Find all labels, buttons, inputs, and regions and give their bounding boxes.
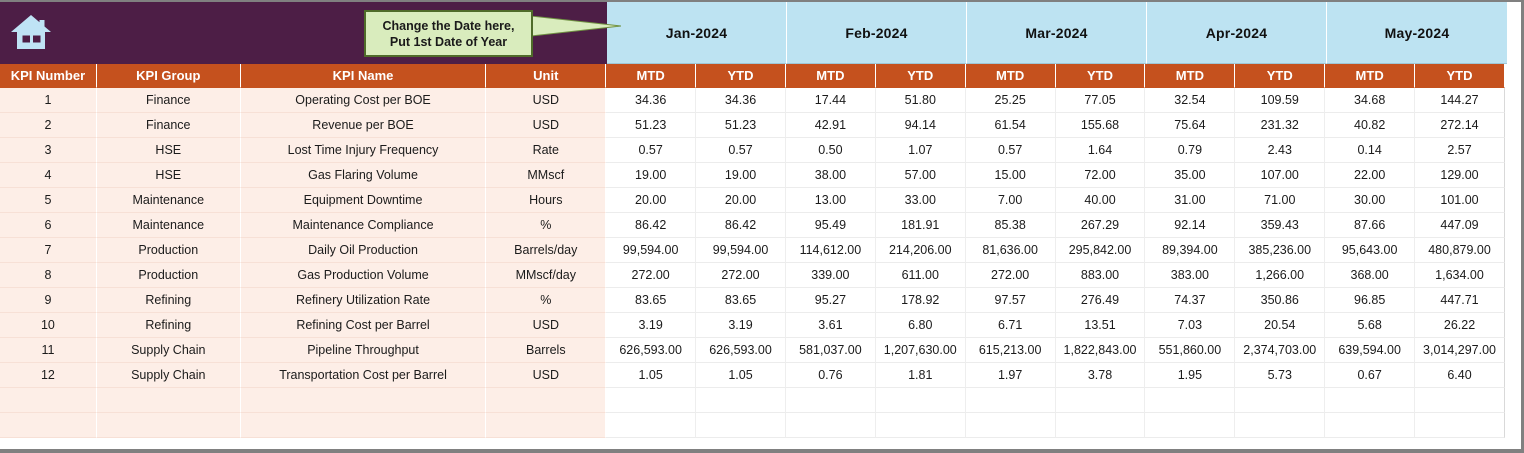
cell-may-2024-ytd[interactable]: 480,879.00 — [1415, 238, 1505, 263]
cell-mar-2024-ytd[interactable]: 883.00 — [1056, 263, 1146, 288]
cell-jan-2024-mtd[interactable]: 272.00 — [606, 263, 696, 288]
cell-kpi-group[interactable]: Refining — [97, 288, 241, 313]
cell-kpi-number[interactable]: 12 — [0, 363, 97, 388]
cell-may-2024-mtd[interactable]: 0.14 — [1325, 138, 1415, 163]
cell-feb-2024-mtd[interactable]: 114,612.00 — [786, 238, 876, 263]
cell-may-2024-ytd[interactable] — [1415, 388, 1505, 413]
column-header-row: KPI NumberKPI GroupKPI NameUnitMTDYTDMTD… — [0, 64, 1505, 88]
cell-jan-2024-mtd[interactable]: 3.19 — [606, 313, 696, 338]
cell-mar-2024-mtd[interactable]: 7.00 — [966, 188, 1056, 213]
table-row: 12Supply ChainTransportation Cost per Ba… — [0, 363, 1505, 388]
cell-jan-2024-mtd[interactable]: 20.00 — [606, 188, 696, 213]
cell-kpi-group[interactable]: Supply Chain — [97, 363, 241, 388]
cell-feb-2024-mtd[interactable]: 13.00 — [786, 188, 876, 213]
cell-apr-2024-mtd[interactable]: 89,394.00 — [1145, 238, 1235, 263]
cell-feb-2024-ytd[interactable]: 51.80 — [876, 88, 966, 113]
cell-feb-2024-ytd[interactable]: 94.14 — [876, 113, 966, 138]
header-mtd-1[interactable]: MTD — [606, 64, 696, 88]
cell-feb-2024-mtd[interactable]: 95.49 — [786, 213, 876, 238]
cell-mar-2024-ytd[interactable]: 295,842.00 — [1056, 238, 1146, 263]
cell-kpi-number[interactable] — [0, 413, 97, 438]
callout-line-2: Put 1st Date of Year — [390, 34, 507, 50]
cell-feb-2024-mtd[interactable]: 42.91 — [786, 113, 876, 138]
cell-jan-2024-ytd[interactable]: 3.19 — [696, 313, 786, 338]
cell-kpi-name[interactable] — [241, 413, 487, 438]
cell-kpi-name[interactable]: Revenue per BOE — [241, 113, 487, 138]
cell-mar-2024-mtd[interactable]: 25.25 — [966, 88, 1056, 113]
table-row: 10RefiningRefining Cost per BarrelUSD3.1… — [0, 313, 1505, 338]
cell-may-2024-mtd[interactable]: 87.66 — [1325, 213, 1415, 238]
cell-jan-2024-ytd[interactable]: 626,593.00 — [696, 338, 786, 363]
cell-jan-2024-mtd[interactable] — [606, 388, 696, 413]
cell-feb-2024-mtd[interactable]: 95.27 — [786, 288, 876, 313]
cell-jan-2024-ytd[interactable] — [696, 413, 786, 438]
cell-kpi-name[interactable] — [241, 388, 487, 413]
cell-feb-2024-ytd[interactable] — [876, 388, 966, 413]
table-row: 1FinanceOperating Cost per BOEUSD34.3634… — [0, 88, 1505, 113]
cell-mar-2024-ytd[interactable] — [1056, 388, 1146, 413]
cell-kpi-group[interactable]: Maintenance — [97, 213, 241, 238]
cell-kpi-name[interactable]: Equipment Downtime — [241, 188, 487, 213]
cell-apr-2024-mtd[interactable]: 0.79 — [1145, 138, 1235, 163]
cell-apr-2024-ytd[interactable]: 5.73 — [1235, 363, 1325, 388]
cell-apr-2024-ytd[interactable]: 107.00 — [1235, 163, 1325, 188]
cell-mar-2024-mtd[interactable]: 6.71 — [966, 313, 1056, 338]
cell-kpi-group[interactable] — [97, 388, 241, 413]
table-row: 9RefiningRefinery Utilization Rate%83.65… — [0, 288, 1505, 313]
date-instruction-callout: Change the Date here, Put 1st Date of Ye… — [364, 10, 533, 57]
cell-apr-2024-mtd[interactable]: 74.37 — [1145, 288, 1235, 313]
table-row: 7ProductionDaily Oil ProductionBarrels/d… — [0, 238, 1505, 263]
cell-feb-2024-mtd[interactable]: 339.00 — [786, 263, 876, 288]
cell-may-2024-mtd[interactable]: 95,643.00 — [1325, 238, 1415, 263]
month-header-band: Jan-2024Feb-2024Mar-2024Apr-2024May-2024 — [607, 2, 1507, 64]
cell-mar-2024-mtd[interactable]: 61.54 — [966, 113, 1056, 138]
cell-mar-2024-mtd[interactable]: 97.57 — [966, 288, 1056, 313]
cell-may-2024-ytd[interactable]: 447.71 — [1415, 288, 1505, 313]
cell-kpi-number[interactable] — [0, 388, 97, 413]
cell-apr-2024-ytd[interactable]: 1,266.00 — [1235, 263, 1325, 288]
cell-kpi-name[interactable]: Transportation Cost per Barrel — [241, 363, 487, 388]
cell-jan-2024-mtd[interactable]: 34.36 — [606, 88, 696, 113]
cell-feb-2024-mtd[interactable]: 0.76 — [786, 363, 876, 388]
cell-feb-2024-ytd[interactable]: 1.81 — [876, 363, 966, 388]
cell-unit[interactable]: % — [486, 288, 606, 313]
callout-line-1: Change the Date here, — [383, 18, 515, 34]
cell-apr-2024-ytd[interactable]: 20.54 — [1235, 313, 1325, 338]
cell-feb-2024-mtd[interactable]: 581,037.00 — [786, 338, 876, 363]
cell-mar-2024-mtd[interactable]: 615,213.00 — [966, 338, 1056, 363]
cell-apr-2024-ytd[interactable] — [1235, 388, 1325, 413]
header-mtd-3[interactable]: MTD — [966, 64, 1056, 88]
table-row: 3HSELost Time Injury FrequencyRate0.570.… — [0, 138, 1505, 163]
cell-mar-2024-ytd[interactable]: 1.64 — [1056, 138, 1146, 163]
cell-kpi-group[interactable]: Finance — [97, 88, 241, 113]
cell-apr-2024-ytd[interactable]: 2.43 — [1235, 138, 1325, 163]
cell-feb-2024-ytd[interactable] — [876, 413, 966, 438]
cell-unit[interactable]: Rate — [486, 138, 606, 163]
cell-jan-2024-ytd[interactable] — [696, 388, 786, 413]
cell-may-2024-mtd[interactable] — [1325, 388, 1415, 413]
cell-jan-2024-ytd[interactable]: 51.23 — [696, 113, 786, 138]
cell-may-2024-mtd[interactable]: 5.68 — [1325, 313, 1415, 338]
cell-apr-2024-mtd[interactable] — [1145, 388, 1235, 413]
cell-jan-2024-mtd[interactable]: 19.00 — [606, 163, 696, 188]
cell-kpi-name[interactable]: Daily Oil Production — [241, 238, 487, 263]
cell-may-2024-mtd[interactable]: 0.67 — [1325, 363, 1415, 388]
cell-mar-2024-mtd[interactable]: 81,636.00 — [966, 238, 1056, 263]
cell-kpi-number[interactable]: 1 — [0, 88, 97, 113]
cell-jan-2024-mtd[interactable]: 51.23 — [606, 113, 696, 138]
header-ytd-2[interactable]: YTD — [876, 64, 966, 88]
home-icon[interactable] — [10, 12, 52, 52]
cell-feb-2024-ytd[interactable]: 33.00 — [876, 188, 966, 213]
header-ytd-3[interactable]: YTD — [1056, 64, 1146, 88]
cell-jan-2024-ytd[interactable]: 272.00 — [696, 263, 786, 288]
cell-kpi-name[interactable]: Gas Flaring Volume — [241, 163, 487, 188]
cell-kpi-group[interactable]: Refining — [97, 313, 241, 338]
cell-apr-2024-mtd[interactable]: 35.00 — [1145, 163, 1235, 188]
cell-kpi-group[interactable]: Production — [97, 263, 241, 288]
cell-may-2024-ytd[interactable]: 6.40 — [1415, 363, 1505, 388]
cell-kpi-group[interactable]: Maintenance — [97, 188, 241, 213]
cell-may-2024-ytd[interactable]: 3,014,297.00 — [1415, 338, 1505, 363]
table-row — [0, 388, 1505, 413]
cell-feb-2024-mtd[interactable]: 17.44 — [786, 88, 876, 113]
cell-may-2024-ytd[interactable]: 101.00 — [1415, 188, 1505, 213]
cell-kpi-group[interactable]: HSE — [97, 138, 241, 163]
cell-unit[interactable]: USD — [486, 313, 606, 338]
header-kpi-group[interactable]: KPI Group — [97, 64, 241, 88]
kpi-dashboard-table: Change the Date here, Put 1st Date of Ye… — [0, 0, 1524, 453]
cell-mar-2024-ytd[interactable]: 40.00 — [1056, 188, 1146, 213]
cell-apr-2024-ytd[interactable]: 385,236.00 — [1235, 238, 1325, 263]
cell-mar-2024-mtd[interactable] — [966, 388, 1056, 413]
cell-apr-2024-ytd[interactable]: 359.43 — [1235, 213, 1325, 238]
cell-unit[interactable]: USD — [486, 88, 606, 113]
cell-unit[interactable] — [486, 388, 606, 413]
callout-tail — [531, 16, 621, 38]
cell-kpi-number[interactable]: 2 — [0, 113, 97, 138]
header-mtd-5[interactable]: MTD — [1325, 64, 1415, 88]
cell-may-2024-ytd[interactable] — [1415, 413, 1505, 438]
cell-mar-2024-ytd[interactable]: 3.78 — [1056, 363, 1146, 388]
cell-unit[interactable]: USD — [486, 113, 606, 138]
cell-jan-2024-ytd[interactable]: 99,594.00 — [696, 238, 786, 263]
table-row: 4HSEGas Flaring VolumeMMscf19.0019.0038.… — [0, 163, 1505, 188]
cell-apr-2024-ytd[interactable]: 109.59 — [1235, 88, 1325, 113]
cell-apr-2024-mtd[interactable]: 32.54 — [1145, 88, 1235, 113]
cell-apr-2024-mtd[interactable]: 92.14 — [1145, 213, 1235, 238]
table-row: 11Supply ChainPipeline ThroughputBarrels… — [0, 338, 1505, 363]
cell-feb-2024-ytd[interactable]: 611.00 — [876, 263, 966, 288]
cell-feb-2024-mtd[interactable] — [786, 413, 876, 438]
cell-feb-2024-ytd[interactable]: 181.91 — [876, 213, 966, 238]
cell-may-2024-mtd[interactable] — [1325, 413, 1415, 438]
cell-may-2024-ytd[interactable]: 144.27 — [1415, 88, 1505, 113]
month-header-may-2024[interactable]: May-2024 — [1327, 2, 1507, 64]
cell-jan-2024-ytd[interactable]: 20.00 — [696, 188, 786, 213]
table-row: 2FinanceRevenue per BOEUSD51.2351.2342.9… — [0, 113, 1505, 138]
cell-kpi-name[interactable]: Operating Cost per BOE — [241, 88, 487, 113]
header-mtd-4[interactable]: MTD — [1145, 64, 1235, 88]
cell-kpi-number[interactable]: 7 — [0, 238, 97, 263]
cell-apr-2024-ytd[interactable] — [1235, 413, 1325, 438]
cell-jan-2024-mtd[interactable]: 83.65 — [606, 288, 696, 313]
cell-feb-2024-ytd[interactable]: 1.07 — [876, 138, 966, 163]
cell-may-2024-mtd[interactable]: 22.00 — [1325, 163, 1415, 188]
cell-jan-2024-mtd[interactable]: 86.42 — [606, 213, 696, 238]
header-mtd-2[interactable]: MTD — [786, 64, 876, 88]
cell-may-2024-ytd[interactable]: 447.09 — [1415, 213, 1505, 238]
cell-unit[interactable]: Barrels — [486, 338, 606, 363]
cell-unit[interactable]: USD — [486, 363, 606, 388]
cell-kpi-number[interactable]: 3 — [0, 138, 97, 163]
header-kpi-name[interactable]: KPI Name — [241, 64, 487, 88]
cell-unit[interactable]: MMscf/day — [486, 263, 606, 288]
cell-mar-2024-mtd[interactable]: 272.00 — [966, 263, 1056, 288]
cell-may-2024-mtd[interactable]: 34.68 — [1325, 88, 1415, 113]
cell-feb-2024-mtd[interactable]: 0.50 — [786, 138, 876, 163]
cell-kpi-name[interactable]: Refining Cost per Barrel — [241, 313, 487, 338]
cell-jan-2024-ytd[interactable]: 83.65 — [696, 288, 786, 313]
cell-kpi-name[interactable]: Lost Time Injury Frequency — [241, 138, 487, 163]
cell-mar-2024-ytd[interactable]: 267.29 — [1056, 213, 1146, 238]
cell-unit[interactable] — [486, 413, 606, 438]
cell-kpi-name[interactable]: Pipeline Throughput — [241, 338, 487, 363]
cell-may-2024-mtd[interactable]: 96.85 — [1325, 288, 1415, 313]
cell-jan-2024-mtd[interactable]: 1.05 — [606, 363, 696, 388]
cell-may-2024-ytd[interactable]: 1,634.00 — [1415, 263, 1505, 288]
header-unit[interactable]: Unit — [486, 64, 606, 88]
cell-kpi-name[interactable]: Gas Production Volume — [241, 263, 487, 288]
cell-apr-2024-ytd[interactable]: 350.86 — [1235, 288, 1325, 313]
table-row — [0, 413, 1505, 438]
header-ytd-5[interactable]: YTD — [1415, 64, 1505, 88]
cell-unit[interactable]: MMscf — [486, 163, 606, 188]
cell-jan-2024-ytd[interactable]: 34.36 — [696, 88, 786, 113]
cell-kpi-number[interactable]: 9 — [0, 288, 97, 313]
cell-mar-2024-mtd[interactable]: 0.57 — [966, 138, 1056, 163]
cell-kpi-name[interactable]: Maintenance Compliance — [241, 213, 487, 238]
cell-apr-2024-mtd[interactable]: 1.95 — [1145, 363, 1235, 388]
cell-apr-2024-ytd[interactable]: 231.32 — [1235, 113, 1325, 138]
cell-mar-2024-ytd[interactable]: 72.00 — [1056, 163, 1146, 188]
cell-kpi-number[interactable]: 8 — [0, 263, 97, 288]
cell-feb-2024-ytd[interactable]: 178.92 — [876, 288, 966, 313]
cell-mar-2024-ytd[interactable]: 77.05 — [1056, 88, 1146, 113]
cell-mar-2024-mtd[interactable] — [966, 413, 1056, 438]
cell-kpi-number[interactable]: 4 — [0, 163, 97, 188]
cell-jan-2024-mtd[interactable] — [606, 413, 696, 438]
cell-unit[interactable]: % — [486, 213, 606, 238]
cell-mar-2024-ytd[interactable] — [1056, 413, 1146, 438]
month-header-apr-2024[interactable]: Apr-2024 — [1147, 2, 1327, 64]
cell-may-2024-mtd[interactable]: 639,594.00 — [1325, 338, 1415, 363]
cell-mar-2024-mtd[interactable]: 15.00 — [966, 163, 1056, 188]
month-header-jan-2024[interactable]: Jan-2024 — [607, 2, 787, 64]
cell-unit[interactable]: Hours — [486, 188, 606, 213]
cell-feb-2024-mtd[interactable]: 3.61 — [786, 313, 876, 338]
cell-mar-2024-mtd[interactable]: 85.38 — [966, 213, 1056, 238]
cell-apr-2024-ytd[interactable]: 71.00 — [1235, 188, 1325, 213]
cell-kpi-group[interactable]: HSE — [97, 163, 241, 188]
cell-kpi-group[interactable]: Finance — [97, 113, 241, 138]
cell-apr-2024-mtd[interactable]: 7.03 — [1145, 313, 1235, 338]
cell-may-2024-mtd[interactable]: 30.00 — [1325, 188, 1415, 213]
cell-jan-2024-mtd[interactable]: 0.57 — [606, 138, 696, 163]
header-ytd-1[interactable]: YTD — [696, 64, 786, 88]
cell-feb-2024-ytd[interactable]: 57.00 — [876, 163, 966, 188]
cell-feb-2024-ytd[interactable]: 214,206.00 — [876, 238, 966, 263]
cell-may-2024-ytd[interactable]: 129.00 — [1415, 163, 1505, 188]
cell-kpi-group[interactable] — [97, 413, 241, 438]
cell-apr-2024-mtd[interactable]: 31.00 — [1145, 188, 1235, 213]
header-ytd-4[interactable]: YTD — [1235, 64, 1325, 88]
cell-may-2024-mtd[interactable]: 40.82 — [1325, 113, 1415, 138]
cell-unit[interactable]: Barrels/day — [486, 238, 606, 263]
cell-feb-2024-mtd[interactable]: 38.00 — [786, 163, 876, 188]
cell-kpi-number[interactable]: 11 — [0, 338, 97, 363]
cell-mar-2024-ytd[interactable]: 1,822,843.00 — [1056, 338, 1146, 363]
cell-apr-2024-mtd[interactable]: 75.64 — [1145, 113, 1235, 138]
table-row: 5MaintenanceEquipment DowntimeHours20.00… — [0, 188, 1505, 213]
cell-may-2024-mtd[interactable]: 368.00 — [1325, 263, 1415, 288]
cell-kpi-number[interactable]: 5 — [0, 188, 97, 213]
cell-kpi-group[interactable]: Production — [97, 238, 241, 263]
cell-apr-2024-mtd[interactable]: 383.00 — [1145, 263, 1235, 288]
cell-mar-2024-ytd[interactable]: 276.49 — [1056, 288, 1146, 313]
month-header-feb-2024[interactable]: Feb-2024 — [787, 2, 967, 64]
cell-kpi-group[interactable]: Supply Chain — [97, 338, 241, 363]
cell-mar-2024-ytd[interactable]: 155.68 — [1056, 113, 1146, 138]
cell-apr-2024-mtd[interactable] — [1145, 413, 1235, 438]
cell-mar-2024-mtd[interactable]: 1.97 — [966, 363, 1056, 388]
table-row: 6MaintenanceMaintenance Compliance%86.42… — [0, 213, 1505, 238]
cell-jan-2024-ytd[interactable]: 0.57 — [696, 138, 786, 163]
cell-jan-2024-ytd[interactable]: 1.05 — [696, 363, 786, 388]
data-grid: KPI NumberKPI GroupKPI NameUnitMTDYTDMTD… — [0, 64, 1505, 438]
cell-apr-2024-mtd[interactable]: 551,860.00 — [1145, 338, 1235, 363]
table-row: 8ProductionGas Production VolumeMMscf/da… — [0, 263, 1505, 288]
cell-feb-2024-ytd[interactable]: 6.80 — [876, 313, 966, 338]
cell-may-2024-ytd[interactable]: 26.22 — [1415, 313, 1505, 338]
header-kpi-number[interactable]: KPI Number — [0, 64, 97, 88]
cell-kpi-number[interactable]: 10 — [0, 313, 97, 338]
cell-jan-2024-mtd[interactable]: 626,593.00 — [606, 338, 696, 363]
cell-jan-2024-ytd[interactable]: 19.00 — [696, 163, 786, 188]
cell-may-2024-ytd[interactable]: 272.14 — [1415, 113, 1505, 138]
cell-kpi-number[interactable]: 6 — [0, 213, 97, 238]
cell-feb-2024-ytd[interactable]: 1,207,630.00 — [876, 338, 966, 363]
cell-kpi-name[interactable]: Refinery Utilization Rate — [241, 288, 487, 313]
cell-may-2024-ytd[interactable]: 2.57 — [1415, 138, 1505, 163]
cell-jan-2024-mtd[interactable]: 99,594.00 — [606, 238, 696, 263]
cell-apr-2024-ytd[interactable]: 2,374,703.00 — [1235, 338, 1325, 363]
month-header-mar-2024[interactable]: Mar-2024 — [967, 2, 1147, 64]
cell-jan-2024-ytd[interactable]: 86.42 — [696, 213, 786, 238]
cell-feb-2024-mtd[interactable] — [786, 388, 876, 413]
cell-mar-2024-ytd[interactable]: 13.51 — [1056, 313, 1146, 338]
